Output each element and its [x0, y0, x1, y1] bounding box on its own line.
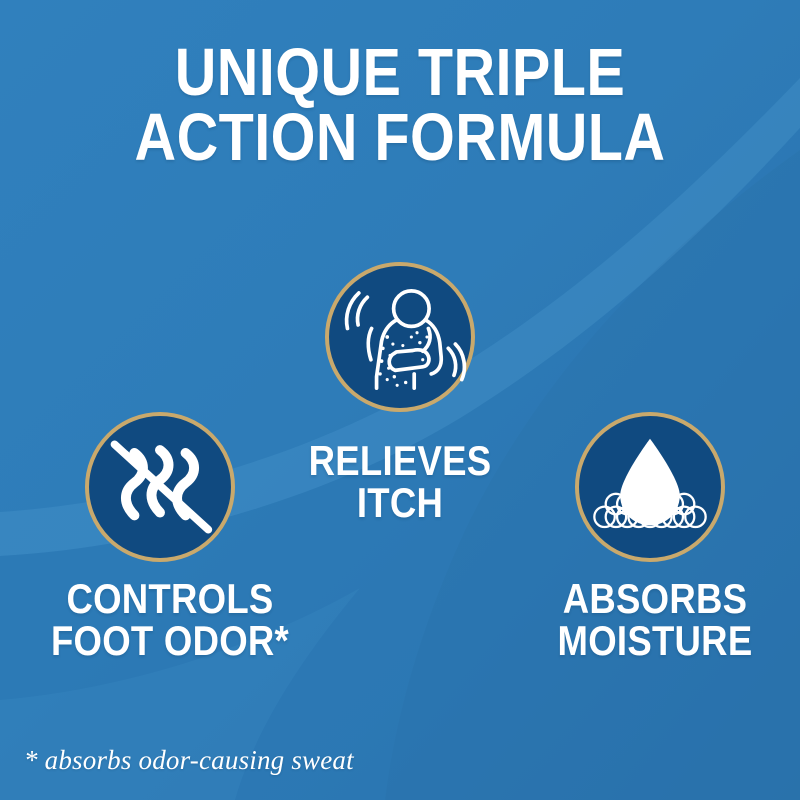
feature-label-moisture: ABSORBS MOISTURE — [538, 578, 773, 661]
headline-line-2: ACTION FORMULA — [56, 105, 744, 170]
feature-label-itch-line-1: RELIEVES — [296, 440, 505, 482]
headline-line-1: UNIQUE TRIPLE — [56, 40, 744, 105]
feature-label-moisture-line-1: ABSORBS — [538, 578, 773, 620]
feature-badge-itch — [325, 262, 475, 412]
footnote-disclaimer: * absorbs odor-causing sweat — [24, 745, 354, 776]
feature-badge-moisture — [575, 412, 725, 562]
droplet-shape — [620, 439, 680, 526]
feature-label-odor: CONTROLS FOOT ODOR* — [40, 578, 301, 661]
water-droplet-absorbing-bubbles-icon — [579, 416, 721, 558]
itch-speckles — [378, 331, 428, 387]
feature-badge-odor — [85, 412, 235, 562]
odor-waves-slashed-icon — [89, 416, 231, 558]
person-scratching-itch-icon — [329, 266, 471, 408]
feature-label-itch-line-2: ITCH — [296, 482, 505, 524]
feature-label-odor-line-2: FOOT ODOR* — [40, 620, 301, 662]
feature-label-moisture-line-2: MOISTURE — [538, 620, 773, 662]
product-feature-poster: UNIQUE TRIPLE ACTION FORMULA — [0, 0, 800, 800]
feature-label-itch: RELIEVES ITCH — [296, 440, 505, 523]
page-title: UNIQUE TRIPLE ACTION FORMULA — [56, 40, 744, 170]
feature-label-odor-line-1: CONTROLS — [40, 578, 301, 620]
